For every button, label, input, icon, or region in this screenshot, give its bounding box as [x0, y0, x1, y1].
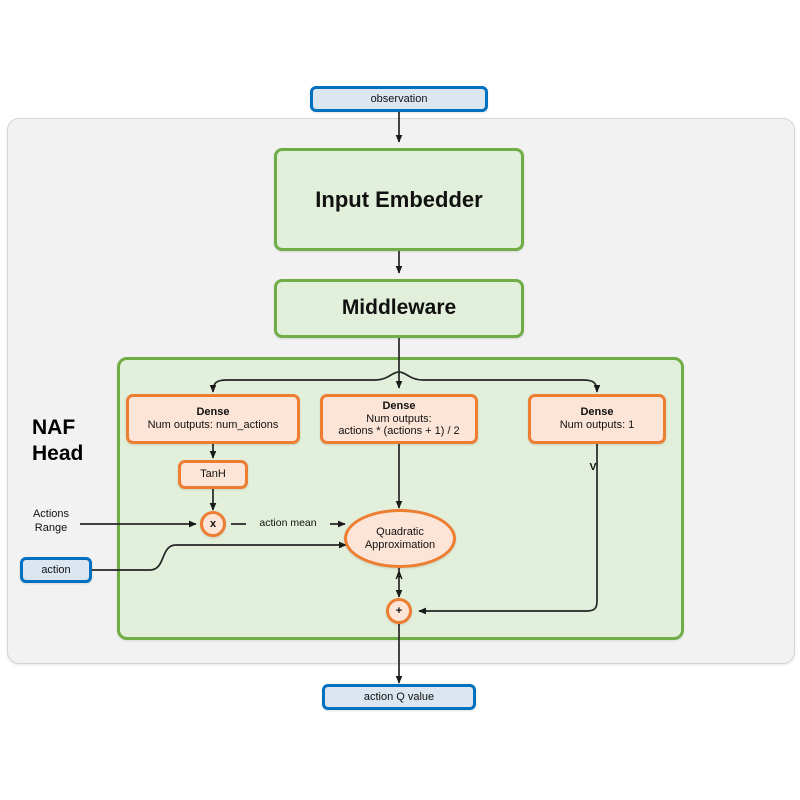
dense-middle-title: Dense — [382, 400, 415, 413]
action-q-value-output-box[interactable]: action Q value — [322, 684, 476, 710]
tanh-label: TanH — [200, 468, 226, 481]
actions-range-line2: Range — [20, 522, 82, 536]
dense-left-block[interactable]: Dense Num outputs: num_actions — [126, 394, 300, 444]
observation-input-box[interactable]: observation — [310, 86, 488, 112]
multiply-label: x — [210, 518, 216, 531]
action-label: action — [41, 564, 70, 577]
naf-head-title-line1: NAF — [32, 415, 132, 441]
quadratic-line2: Approximation — [365, 539, 435, 552]
value-edge-label: V — [583, 461, 603, 473]
add-label: + — [396, 605, 402, 618]
input-embedder-block[interactable]: Input Embedder — [274, 148, 524, 251]
action-input-box[interactable]: action — [20, 557, 92, 583]
middleware-label: Middleware — [342, 296, 456, 321]
action-mean-edge-label: action mean — [246, 517, 330, 529]
actions-range-label: Actions Range — [20, 508, 82, 536]
dense-middle-detail-1: Num outputs: — [366, 413, 431, 426]
observation-label: observation — [371, 93, 428, 106]
dense-left-title: Dense — [196, 406, 229, 419]
add-operator-node[interactable]: + — [386, 598, 412, 624]
actions-range-line1: Actions — [20, 508, 82, 522]
advantage-edge-label: A — [389, 570, 409, 582]
dense-right-title: Dense — [580, 406, 613, 419]
action-q-value-label: action Q value — [364, 691, 434, 704]
middleware-block[interactable]: Middleware — [274, 279, 524, 338]
dense-left-detail: Num outputs: num_actions — [148, 419, 279, 432]
dense-right-block[interactable]: Dense Num outputs: 1 — [528, 394, 666, 444]
quadratic-approximation-node[interactable]: Quadratic Approximation — [344, 509, 456, 568]
multiply-operator-node[interactable]: x — [200, 511, 226, 537]
dense-middle-block[interactable]: Dense Num outputs: actions * (actions + … — [320, 394, 478, 444]
naf-head-title: NAF Head — [32, 415, 132, 466]
dense-middle-detail-2: actions * (actions + 1) / 2 — [338, 425, 459, 438]
naf-head-title-line2: Head — [32, 441, 132, 467]
quadratic-line1: Quadratic — [376, 526, 424, 539]
dense-right-detail: Num outputs: 1 — [560, 419, 635, 432]
input-embedder-label: Input Embedder — [315, 187, 482, 213]
tanh-activation-block[interactable]: TanH — [178, 460, 248, 489]
diagram-canvas: observation Input Embedder Middleware NA… — [0, 0, 800, 800]
